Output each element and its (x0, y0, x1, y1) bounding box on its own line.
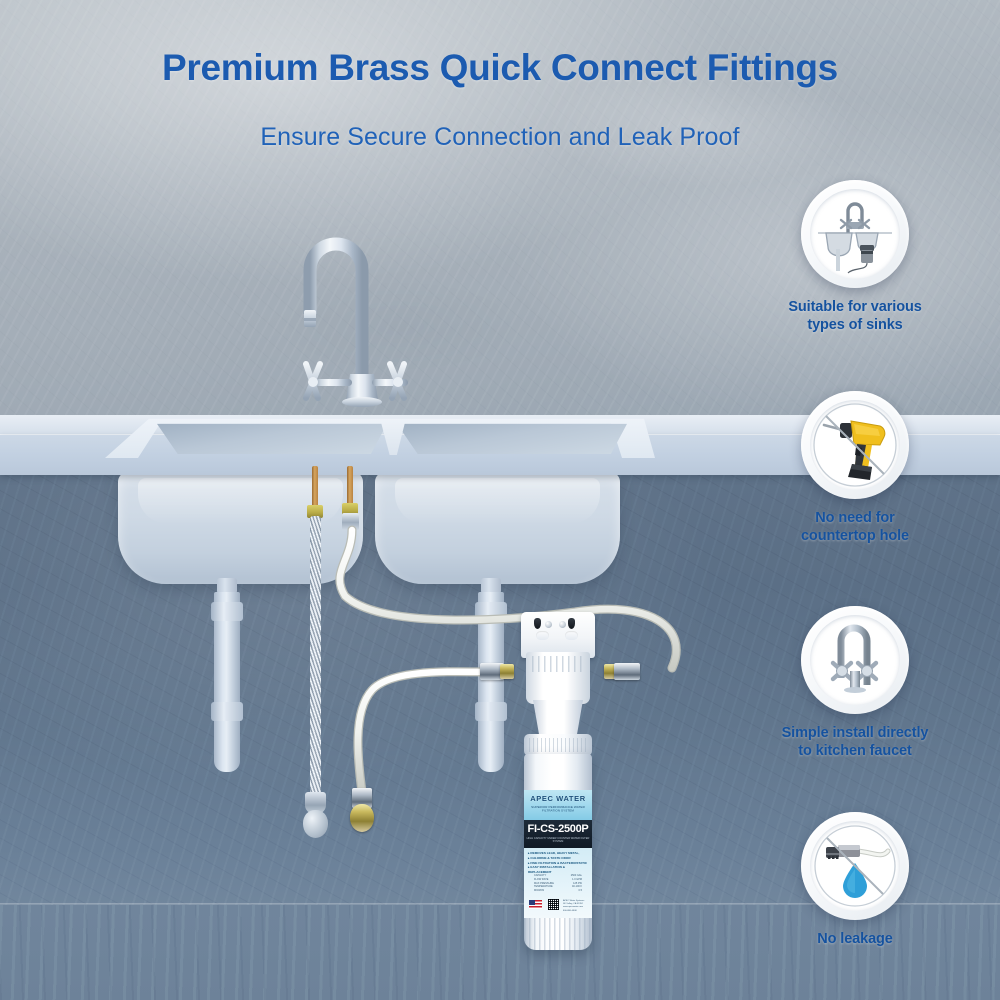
company-address: APEC Water SystemsSF Valley, CA 91352www… (563, 900, 589, 913)
us-flag-icon (529, 900, 542, 909)
product-model-number: FI-CS-2500P (524, 823, 592, 835)
feature-simple-install[interactable]: Simple install directly to kitchen fauce… (735, 606, 975, 761)
filter-label: APEC WATER SUPERIOR PERFORMANCE WATER FI… (524, 790, 592, 918)
feature-icon-circle-2 (801, 391, 909, 499)
kitchen-faucet-icon (810, 615, 900, 705)
feature-suitable-for-sinks[interactable]: Suitable for various types of sinks (735, 180, 975, 335)
filter-head (526, 652, 590, 704)
feature-icon-circle-1 (801, 180, 909, 288)
brand-name: APEC WATER (524, 794, 592, 803)
product-feature-bullets: ▸ REMOVES LEAD, HEAVY METAL,▸ CHLORINE &… (528, 851, 588, 875)
spec-value: 0.5 (579, 889, 582, 893)
no-drill-icon (810, 400, 900, 490)
quick-connect-fitting-right-chrome (614, 663, 640, 680)
spec-name: MICRON (534, 889, 544, 893)
product-model-subtitle: HIGH CAPACITY UNDER COUNTER WATER FILTER… (524, 837, 592, 843)
water-filter-unit: APEC WATER SUPERIOR PERFORMANCE WATER FI… (500, 612, 615, 952)
brand-tagline: SUPERIOR PERFORMANCE WATER FILTRATION SY… (524, 805, 592, 812)
filter-housing: APEC WATER SUPERIOR PERFORMANCE WATER FI… (524, 754, 592, 950)
spec-row: MICRON0.5 (534, 889, 582, 893)
address-line: 800-880-4808 (563, 910, 589, 913)
page-subtitle: Ensure Secure Connection and Leak Proof (0, 123, 1000, 152)
feature-no-leakage[interactable]: No leakage (735, 812, 975, 949)
feature-label-4: No leakage (735, 931, 975, 949)
sink-with-filter-icon (810, 189, 900, 279)
feature-icon-circle-3 (801, 606, 909, 714)
feature-label-1: Suitable for various types of sinks (735, 299, 975, 335)
feature-icon-circle-4 (801, 812, 909, 920)
feature-no-countertop-hole[interactable]: No need for countertop hole (735, 391, 975, 546)
feature-label-2: No need for countertop hole (735, 510, 975, 546)
filter-collar (524, 734, 592, 756)
brass-tubing-end-bulb (350, 804, 374, 832)
page-title: Premium Brass Quick Connect Fittings (0, 48, 1000, 89)
product-spec-table: CAPACITY2500 GALFLOW RATE1.0 GPMMAX PRES… (534, 874, 582, 893)
qr-code-icon (548, 899, 559, 910)
no-leak-fitting-icon (810, 821, 900, 911)
feature-label-3: Simple install directly to kitchen fauce… (735, 725, 975, 761)
